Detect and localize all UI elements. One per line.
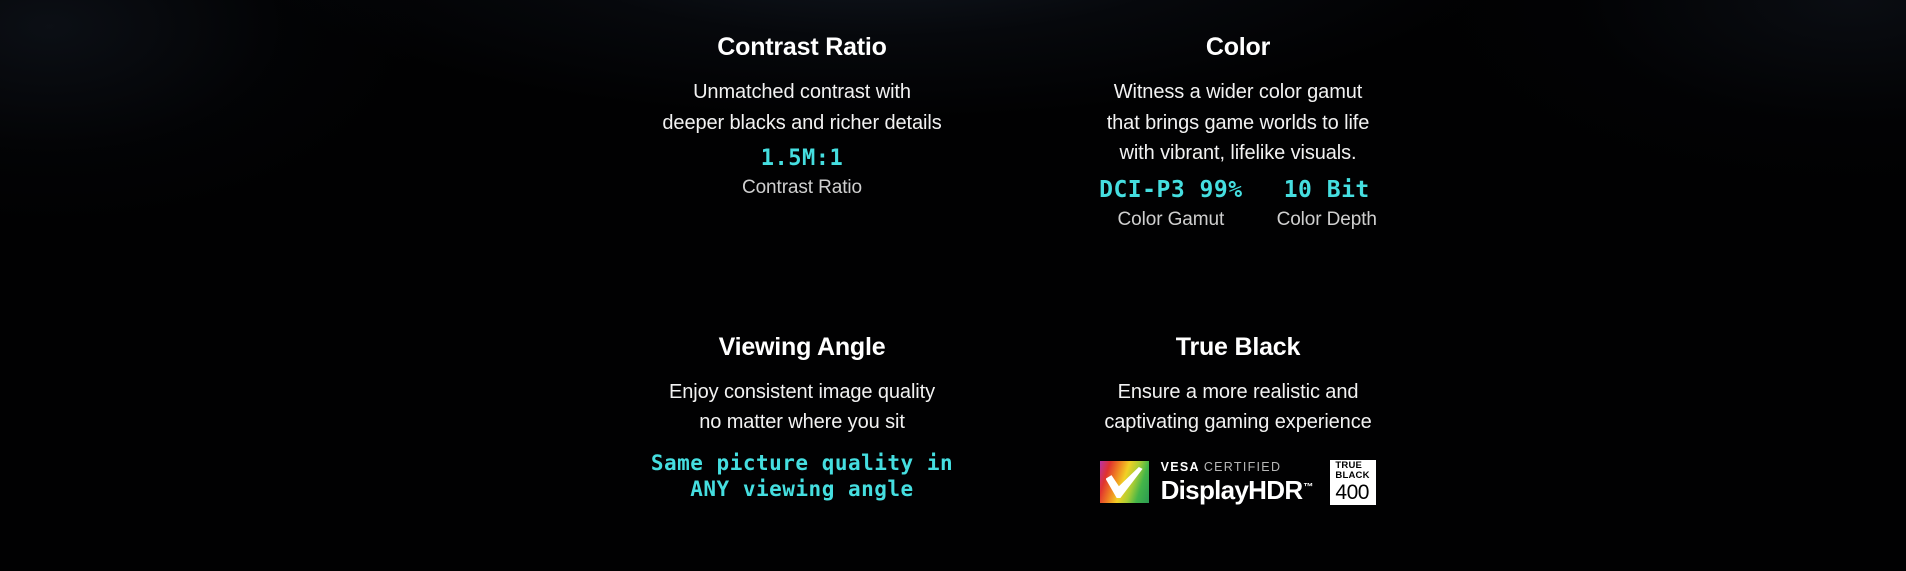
panel-description-color: Witness a wider color gamut that brings … [1107,77,1370,168]
vesa-certified-line: VESACERTIFIED [1161,461,1282,474]
certified-label: CERTIFIED [1204,460,1281,474]
vesa-label: VESA [1161,460,1200,474]
description-line: Ensure a more realistic and [1104,377,1371,407]
vesa-wordmark: VESACERTIFIED DisplayHDR™ [1161,461,1314,504]
vesa-rainbow-check-icon [1100,461,1149,503]
displayhdr-label: DisplayHDR [1161,475,1303,505]
description-line: that brings game worlds to life [1107,108,1370,138]
stat-block-contrast-ratio: 1.5M:1 Contrast Ratio [742,145,862,200]
trademark-icon: ™ [1303,482,1313,493]
callout-viewing-angle: Same picture quality in ANY viewing angl… [651,450,953,504]
description-line: deeper blacks and richer details [662,108,941,138]
description-line: no matter where you sit [669,407,935,437]
feature-panel-viewing-angle: Viewing Angle Enjoy consistent image qua… [0,286,970,571]
description-line: Enjoy consistent image quality [669,377,935,407]
feature-panel-color: Color Witness a wider color gamut that b… [970,0,1906,286]
stat-value-contrast-ratio: 1.5M:1 [761,145,843,173]
description-line: captivating gaming experience [1104,407,1371,437]
panel-title-viewing-angle: Viewing Angle [719,334,886,360]
tier-line-black: BLACK [1335,471,1369,481]
panel-description-true-black: Ensure a more realistic and captivating … [1104,377,1371,438]
panel-title-color: Color [1206,34,1270,60]
feature-panel-true-black: True Black Ensure a more realistic and c… [970,286,1906,571]
description-line: Unmatched contrast with [662,77,941,107]
stat-color-gamut: DCI-P3 99% Color Gamut [1099,176,1242,232]
callout-line: ANY viewing angle [651,476,953,503]
panel-description-contrast-ratio: Unmatched contrast with deeper blacks an… [662,77,941,138]
panel-title-contrast-ratio: Contrast Ratio [717,34,886,60]
stat-value-color-gamut: DCI-P3 99% [1099,176,1242,205]
true-black-400-tier-badge: TRUE BLACK 400 [1330,460,1376,505]
stat-caption-color-depth: Color Depth [1277,207,1377,233]
displayhdr-wordmark: DisplayHDR™ [1161,477,1314,503]
panel-description-viewing-angle: Enjoy consistent image quality no matter… [669,377,935,438]
feature-panel-grid: Contrast Ratio Unmatched contrast with d… [0,0,1906,571]
stat-caption-contrast-ratio: Contrast Ratio [742,175,862,201]
feature-panel-contrast-ratio: Contrast Ratio Unmatched contrast with d… [0,0,970,286]
description-line: Witness a wider color gamut [1107,77,1370,107]
tier-value-400: 400 [1335,482,1369,503]
callout-line: Same picture quality in [651,450,953,477]
stat-value-color-depth: 10 Bit [1284,176,1370,205]
stat-color-depth: 10 Bit Color Depth [1277,176,1377,232]
stat-block-color: DCI-P3 99% Color Gamut 10 Bit Color Dept… [1099,176,1377,232]
vesa-displayhdr-badge: VESACERTIFIED DisplayHDR™ TRUE BLACK 400 [1100,460,1377,505]
panel-title-true-black: True Black [1176,334,1300,360]
description-line: with vibrant, lifelike visuals. [1107,138,1370,168]
stat-caption-color-gamut: Color Gamut [1118,207,1225,233]
